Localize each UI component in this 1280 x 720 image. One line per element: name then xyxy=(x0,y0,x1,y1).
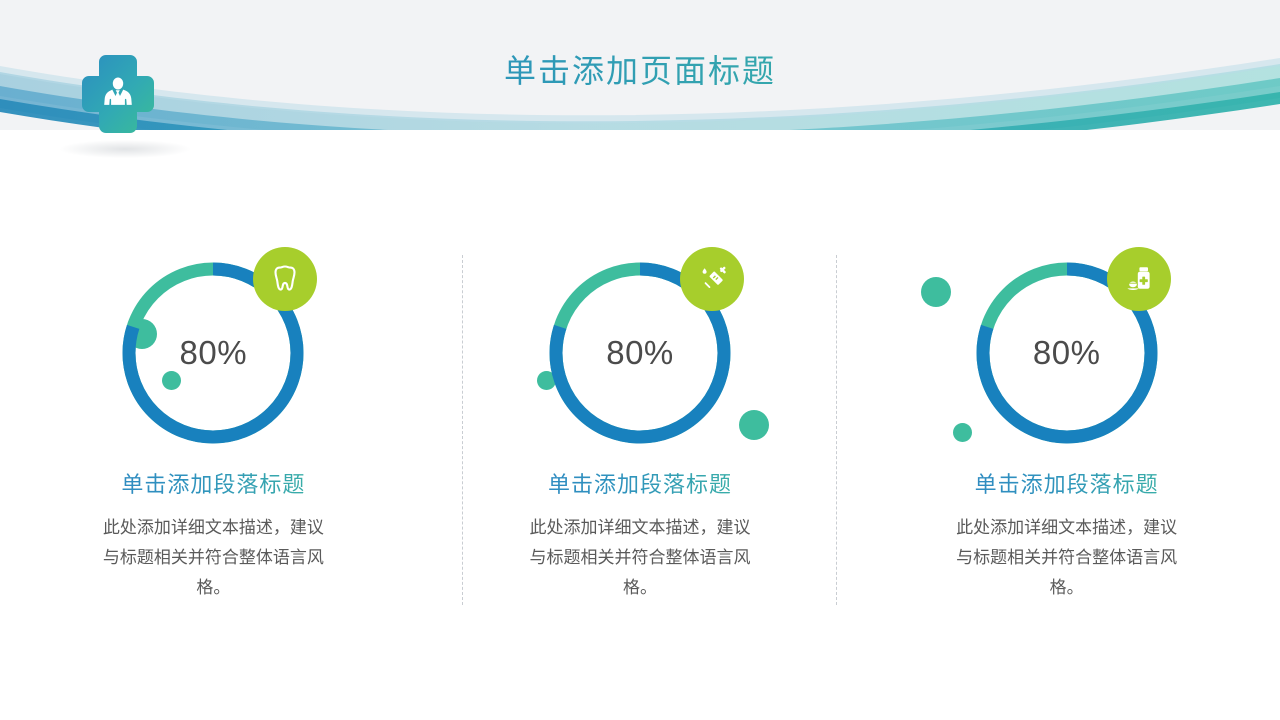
tooth-icon xyxy=(268,262,302,296)
caption-2: 单击添加段落标题 此处添加详细文本描述，建议与标题相关并符合整体语言风格。 xyxy=(490,467,790,603)
medicine-bottle-icon-badge[interactable] xyxy=(1107,247,1171,311)
syringe-icon xyxy=(695,262,729,296)
caption-title-1: 单击添加段落标题 xyxy=(63,467,363,499)
syringe-icon-badge[interactable] xyxy=(680,247,744,311)
donut-chart-1: 80% xyxy=(113,253,313,453)
caption-1: 单击添加段落标题 此处添加详细文本描述，建议与标题相关并符合整体语言风格。 xyxy=(63,467,363,603)
medicine-bottle-icon xyxy=(1122,262,1156,296)
tooth-icon-badge[interactable] xyxy=(253,247,317,311)
page-title: 单击添加页面标题 xyxy=(0,46,1280,92)
column-2: 80% xyxy=(427,245,854,605)
decor-dot-large xyxy=(739,410,769,440)
caption-title-2: 单击添加段落标题 xyxy=(490,467,790,499)
caption-title-3: 单击添加段落标题 xyxy=(917,467,1217,499)
caption-body-1: 此处添加详细文本描述，建议与标题相关并符合整体语言风格。 xyxy=(101,513,326,603)
column-3: 80% xyxy=(853,245,1280,605)
decor-dot-large xyxy=(921,277,951,307)
badge-drop-shadow xyxy=(60,140,190,158)
columns-container: 80% 单击添加段落标题 此处添加详细文本描述，建议与标题相关并符合整体语言风格… xyxy=(0,245,1280,605)
caption-3: 单击添加段落标题 此处添加详细文本描述，建议与标题相关并符合整体语言风格。 xyxy=(917,467,1217,603)
caption-body-3: 此处添加详细文本描述，建议与标题相关并符合整体语言风格。 xyxy=(954,513,1179,603)
slide-root: 单击添加页面标题 80% xyxy=(0,0,1280,720)
column-1: 80% 单击添加段落标题 此处添加详细文本描述，建议与标题相关并符合整体语言风格… xyxy=(0,245,427,605)
caption-body-2: 此处添加详细文本描述，建议与标题相关并符合整体语言风格。 xyxy=(528,513,753,603)
donut-chart-2: 80% xyxy=(540,253,740,453)
donut-chart-3: 80% xyxy=(967,253,1167,453)
